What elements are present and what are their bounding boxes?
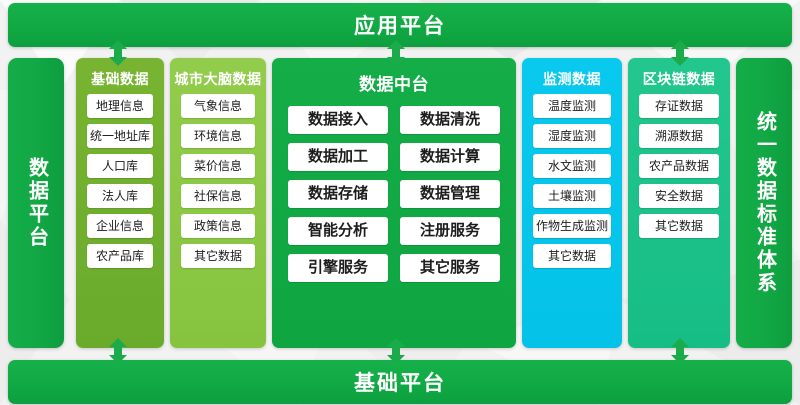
list-item[interactable]: 其它数据 <box>639 214 718 238</box>
list-item[interactable]: 安全数据 <box>639 184 718 208</box>
list-item[interactable]: 引擎服务 <box>288 254 388 282</box>
column-data-middle-platform-items: 数据接入 数据清洗 数据加工 数据计算 数据存储 数据管理 智能分析 注册服务 … <box>278 106 510 282</box>
list-item[interactable]: 环境信息 <box>181 124 255 148</box>
double-arrow-vertical-icon <box>385 338 407 364</box>
double-arrow-vertical-icon <box>669 40 691 66</box>
column-blockchain-data-items: 存证数据 溯源数据 农产品数据 安全数据 其它数据 <box>634 94 724 238</box>
list-item[interactable]: 作物生成监测 <box>533 214 610 238</box>
data-platform-label: 数据平台 <box>26 157 47 249</box>
list-item[interactable]: 法人库 <box>87 184 154 208</box>
list-item[interactable]: 溯源数据 <box>639 124 718 148</box>
list-item[interactable]: 农产品数据 <box>639 154 718 178</box>
list-item[interactable]: 统一地址库 <box>87 124 154 148</box>
column-data-middle-platform[interactable]: 数据中台 数据接入 数据清洗 数据加工 数据计算 数据存储 数据管理 智能分析 … <box>272 58 516 348</box>
list-item[interactable]: 土壤监测 <box>533 184 610 208</box>
list-item[interactable]: 地理信息 <box>87 94 154 118</box>
list-item[interactable]: 农产品库 <box>87 244 154 268</box>
double-arrow-vertical-icon <box>107 40 129 66</box>
list-item[interactable]: 数据计算 <box>400 143 500 171</box>
column-city-brain-data-title: 城市大脑数据 <box>175 64 262 94</box>
column-monitoring-data-items: 温度监测 湿度监测 水文监测 土壤监测 作物生成监测 其它数据 <box>528 94 616 268</box>
column-basic-data-title: 基础数据 <box>91 64 149 94</box>
double-arrow-vertical-icon <box>385 40 407 66</box>
list-item[interactable]: 数据管理 <box>400 180 500 208</box>
list-item[interactable]: 政策信息 <box>181 214 255 238</box>
diagram-canvas: 应用平台 数据平台 基础数据 地理信息 统一地址库 人口库 法人库 企业信息 农… <box>0 0 800 405</box>
list-item[interactable]: 智能分析 <box>288 217 388 245</box>
basic-platform-bar[interactable]: 基础平台 <box>8 360 792 404</box>
list-item[interactable]: 其它数据 <box>533 244 610 268</box>
list-item[interactable]: 水文监测 <box>533 154 610 178</box>
list-item[interactable]: 菜价信息 <box>181 154 255 178</box>
column-monitoring-data-title: 监测数据 <box>543 64 601 94</box>
column-basic-data-items: 地理信息 统一地址库 人口库 法人库 企业信息 农产品库 <box>82 94 158 268</box>
basic-platform-label: 基础平台 <box>354 367 446 397</box>
double-arrow-vertical-icon <box>107 338 129 364</box>
double-arrow-vertical-icon <box>669 338 691 364</box>
list-item[interactable]: 人口库 <box>87 154 154 178</box>
list-item[interactable]: 社保信息 <box>181 184 255 208</box>
application-platform-label: 应用平台 <box>354 10 446 40</box>
column-monitoring-data[interactable]: 监测数据 温度监测 湿度监测 水文监测 土壤监测 作物生成监测 其它数据 <box>522 58 622 348</box>
list-item[interactable]: 气象信息 <box>181 94 255 118</box>
column-blockchain-data[interactable]: 区块链数据 存证数据 溯源数据 农产品数据 安全数据 其它数据 <box>628 58 730 348</box>
column-city-brain-data-items: 气象信息 环境信息 菜价信息 社保信息 政策信息 其它数据 <box>176 94 260 268</box>
list-item[interactable]: 其它数据 <box>181 244 255 268</box>
column-basic-data[interactable]: 基础数据 地理信息 统一地址库 人口库 法人库 企业信息 农产品库 <box>76 58 164 348</box>
unified-data-standard-label: 统一数据标准体系 <box>754 111 775 295</box>
column-blockchain-data-title: 区块链数据 <box>643 64 716 94</box>
list-item[interactable]: 数据接入 <box>288 106 388 134</box>
list-item[interactable]: 注册服务 <box>400 217 500 245</box>
list-item[interactable]: 其它服务 <box>400 254 500 282</box>
column-data-middle-platform-title: 数据中台 <box>359 64 429 106</box>
list-item[interactable]: 温度监测 <box>533 94 610 118</box>
list-item[interactable]: 湿度监测 <box>533 124 610 148</box>
list-item[interactable]: 存证数据 <box>639 94 718 118</box>
data-platform-bar[interactable]: 数据平台 <box>8 58 64 348</box>
list-item[interactable]: 企业信息 <box>87 214 154 238</box>
unified-data-standard-bar[interactable]: 统一数据标准体系 <box>736 58 792 348</box>
column-city-brain-data[interactable]: 城市大脑数据 气象信息 环境信息 菜价信息 社保信息 政策信息 其它数据 <box>170 58 266 348</box>
list-item[interactable]: 数据存储 <box>288 180 388 208</box>
list-item[interactable]: 数据清洗 <box>400 106 500 134</box>
list-item[interactable]: 数据加工 <box>288 143 388 171</box>
